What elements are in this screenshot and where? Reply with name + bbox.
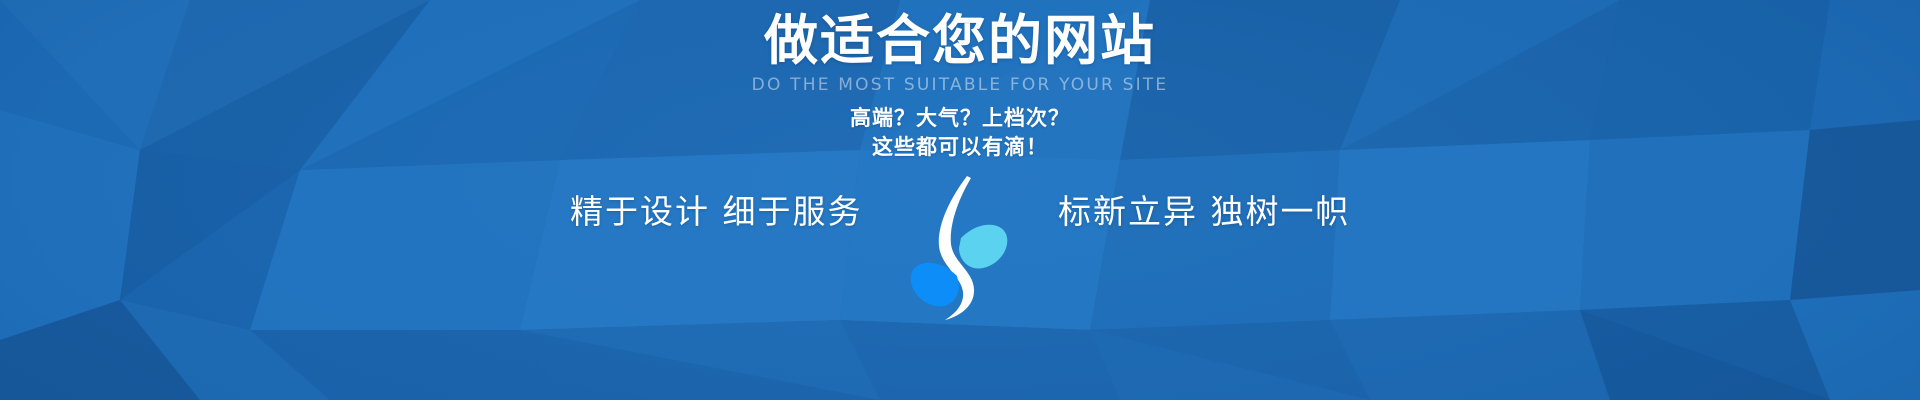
- slogan-right: 标新立异 独树一帜: [1020, 195, 1350, 228]
- promo-banner: 做适合您的网站 DO THE MOST SUITABLE FOR YOUR SI…: [0, 0, 1920, 400]
- headline-block: 做适合您的网站 DO THE MOST SUITABLE FOR YOUR SI…: [0, 12, 1920, 95]
- english-subtitle: DO THE MOST SUITABLE FOR YOUR SITE: [0, 75, 1920, 95]
- tagline-line-2: 这些都可以有滴！: [0, 133, 1920, 162]
- leaf-stem-logo-icon: [905, 172, 1015, 322]
- main-title: 做适合您的网站: [0, 12, 1920, 70]
- tagline-block: 高端？大气？上档次？ 这些都可以有滴！: [0, 104, 1920, 162]
- tagline-line-1: 高端？大气？上档次？: [0, 104, 1920, 133]
- slogan-left: 精于设计 细于服务: [570, 195, 900, 228]
